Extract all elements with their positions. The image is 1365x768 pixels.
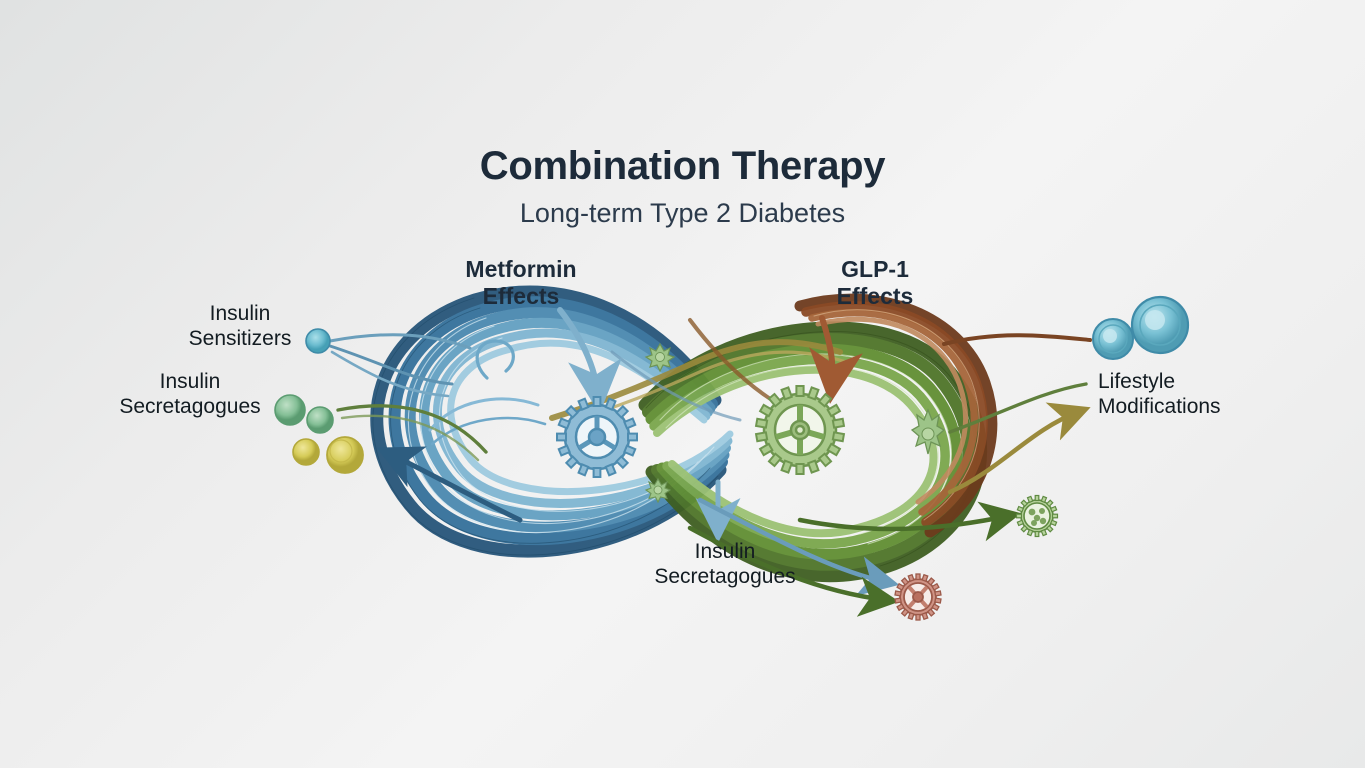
gear-glp1-core	[756, 386, 844, 474]
lifestyle-cell-small	[1093, 319, 1133, 359]
page-subtitle: Long-term Type 2 Diabetes	[0, 198, 1365, 229]
secretagogue-cell-yellow-1	[293, 439, 319, 465]
lobe-label-glp1: GLP-1 Effects	[805, 256, 945, 310]
secretagogue-cell-yellow-2	[327, 437, 363, 473]
gear-metformin-core	[557, 397, 637, 477]
lifestyle-cell-large	[1132, 297, 1188, 353]
label-insulin-secretagogues-left: Insulin Secretagogues	[100, 370, 280, 420]
gear-outcome-red	[895, 574, 941, 620]
label-lifestyle-modifications: Lifestyle Modifications	[1098, 370, 1258, 420]
label-insulin-sensitizers: Insulin Sensitizers	[170, 302, 310, 352]
secretagogue-cell-green-2	[307, 407, 333, 433]
gear-outcome-green	[1017, 496, 1058, 537]
metformin-ribbon-bundle	[373, 292, 730, 555]
label-insulin-secretagogues-center: Insulin Secretagogues	[630, 540, 820, 590]
lifestyle-cells	[1093, 297, 1188, 359]
page-title: Combination Therapy	[0, 144, 1365, 189]
lobe-label-metformin: Metformin Effects	[437, 256, 605, 310]
diagram-canvas: Combination Therapy Long-term Type 2 Dia…	[0, 0, 1365, 768]
